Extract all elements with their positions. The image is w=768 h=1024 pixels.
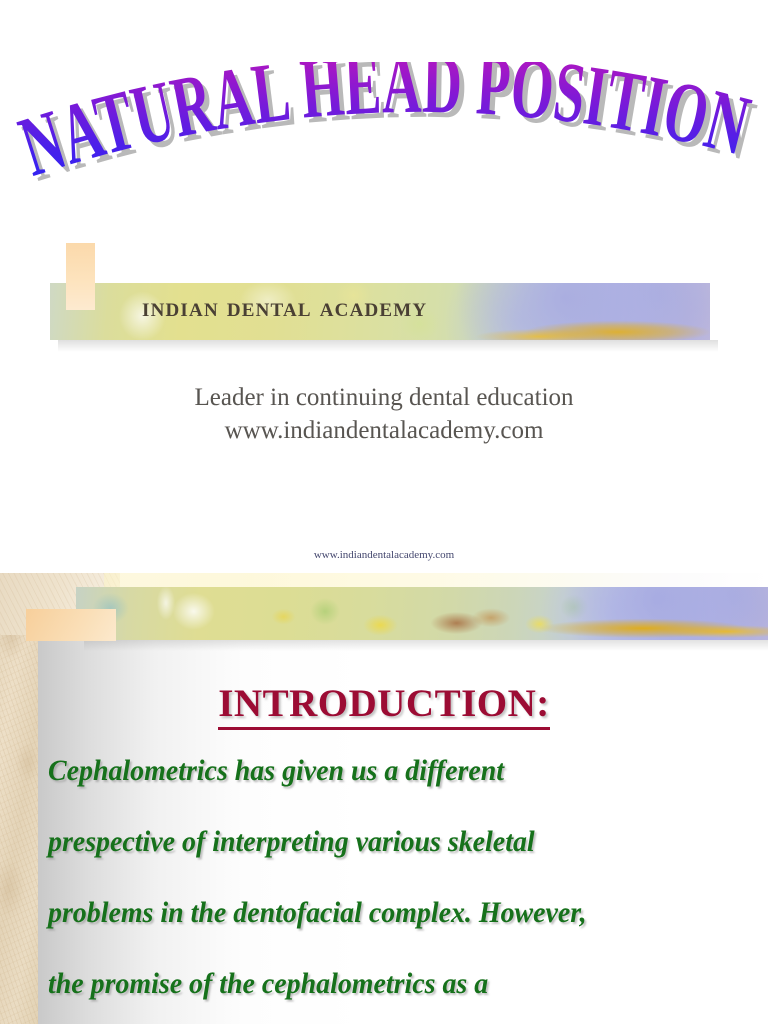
page-title: INTRODUCTION:: [0, 681, 768, 726]
peach-accent-bar: [66, 243, 95, 310]
slide-title: NATURAL HEAD POSITION NATURAL HEAD POSIT…: [0, 0, 768, 573]
peach-accent-block: [26, 609, 116, 641]
wordart-title: NATURAL HEAD POSITION NATURAL HEAD POSIT…: [8, 62, 760, 242]
body-line-3: problems in the dentofacial complex. How…: [48, 877, 699, 948]
body-line-2: prespective of interpreting various skel…: [48, 806, 699, 877]
header-band-shadow: [84, 640, 768, 651]
banner-shadow: [58, 340, 718, 352]
header-decorative-band: [76, 587, 768, 640]
body-line-1: Cephalometrics has given us a different: [48, 735, 699, 806]
body-line-4: the promise of the cephalometrics as a: [48, 948, 699, 1019]
academy-subtitle: Leader in continuing dental education ww…: [0, 381, 768, 447]
slide-footer-url: www.indiandentalacademy.com: [0, 549, 768, 561]
academy-website-line: www.indiandentalacademy.com: [0, 414, 768, 447]
academy-banner-title: INDIAN DENTAL ACADEMY: [142, 292, 427, 323]
introduction-body: Cephalometrics has given us a different …: [48, 735, 699, 1019]
academy-subtitle-line1: Leader in continuing dental education: [0, 381, 768, 414]
page-title-text: INTRODUCTION:: [218, 682, 550, 730]
academy-banner: INDIAN DENTAL ACADEMY: [50, 283, 710, 340]
